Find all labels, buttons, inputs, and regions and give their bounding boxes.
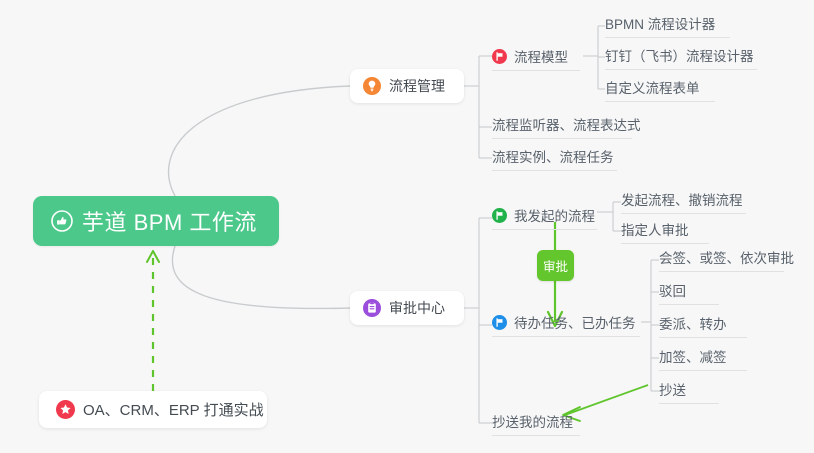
- topic-carbon-copy[interactable]: 抄送: [659, 379, 719, 404]
- topic-label-delegate-transfer: 委派、转办: [659, 313, 727, 333]
- topic-label-flow-listener-expression: 流程监听器、流程表达式: [492, 114, 641, 134]
- topic-label-add-remove-sign: 加签、减签: [659, 346, 727, 366]
- topic-label-dingtalk-feishu-designer: 钉钉（飞书）流程设计器: [605, 45, 754, 65]
- integration-node-label: OA、CRM、ERP 打通实战: [83, 399, 264, 420]
- root-node[interactable]: 芋道 BPM 工作流: [33, 196, 279, 246]
- branch-node-flow-management[interactable]: 流程管理: [350, 69, 464, 103]
- topic-reject[interactable]: 驳回: [659, 280, 719, 305]
- topic-label-custom-flow-form: 自定义流程表单: [605, 77, 700, 97]
- topic-assignee-approval[interactable]: 指定人审批: [621, 219, 709, 244]
- topic-todo-done-tasks[interactable]: 待办任务、已办任务: [492, 312, 640, 337]
- topic-flow-listener-expression[interactable]: 流程监听器、流程表达式: [492, 114, 632, 139]
- topic-label-flow-instance-task: 流程实例、流程任务: [492, 146, 614, 166]
- topic-bpmn-designer[interactable]: BPMN 流程设计器: [605, 13, 730, 38]
- topic-delegate-transfer[interactable]: 委派、转办: [659, 313, 747, 338]
- topic-cc-to-me-flows[interactable]: 抄送我的流程: [492, 411, 580, 436]
- clipboard-icon: [363, 299, 381, 317]
- topic-label-reject: 驳回: [659, 280, 686, 300]
- topic-custom-flow-form[interactable]: 自定义流程表单: [605, 77, 715, 102]
- star-icon: [56, 400, 75, 419]
- topic-label-multi-sign: 会签、或签、依次审批: [659, 247, 794, 267]
- approval-chip: 审批: [537, 250, 574, 281]
- lightbulb-icon: [363, 77, 381, 95]
- topic-label-my-initiated-flows: 我发起的流程: [514, 205, 595, 225]
- branch-node-approval-center[interactable]: 审批中心: [350, 291, 464, 325]
- connector-root-to-flow-management: [169, 86, 350, 196]
- topic-label-carbon-copy: 抄送: [659, 379, 686, 399]
- topic-flow-instance-task[interactable]: 流程实例、流程任务: [492, 146, 617, 171]
- flag-icon: [492, 49, 507, 64]
- topic-label-flow-model: 流程模型: [514, 46, 568, 66]
- topic-label-todo-done-tasks: 待办任务、已办任务: [514, 312, 636, 332]
- arrow-integration-uplink-head: [147, 251, 159, 262]
- connector-root-to-approval-center: [172, 246, 350, 308]
- branch-label-approval-center: 审批中心: [389, 298, 445, 318]
- branch-label-flow-management: 流程管理: [389, 76, 445, 96]
- topic-label-assignee-approval: 指定人审批: [621, 219, 689, 239]
- mindmap-canvas: 芋道 BPM 工作流 流程管理 流程模型 BPMN 流程设计器 钉钉（飞书）流程: [0, 0, 814, 453]
- thumbs-up-icon: [51, 210, 73, 232]
- topic-start-cancel-flow[interactable]: 发起流程、撤销流程: [621, 189, 746, 214]
- integration-node[interactable]: OA、CRM、ERP 打通实战: [39, 391, 267, 428]
- topic-my-initiated-flows[interactable]: 我发起的流程: [492, 205, 597, 230]
- approval-chip-label: 审批: [543, 256, 568, 275]
- topic-dingtalk-feishu-designer[interactable]: 钉钉（飞书）流程设计器: [605, 45, 757, 70]
- flag-icon: [492, 315, 507, 330]
- topic-label-bpmn-designer: BPMN 流程设计器: [605, 13, 715, 33]
- root-label: 芋道 BPM 工作流: [82, 205, 257, 237]
- flag-icon: [492, 208, 507, 223]
- topic-multi-sign[interactable]: 会签、或签、依次审批: [659, 247, 784, 272]
- topic-flow-model[interactable]: 流程模型: [492, 46, 580, 71]
- topic-label-start-cancel-flow: 发起流程、撤销流程: [621, 189, 743, 209]
- topic-label-cc-to-me-flows: 抄送我的流程: [492, 411, 573, 431]
- topic-add-remove-sign[interactable]: 加签、减签: [659, 346, 747, 371]
